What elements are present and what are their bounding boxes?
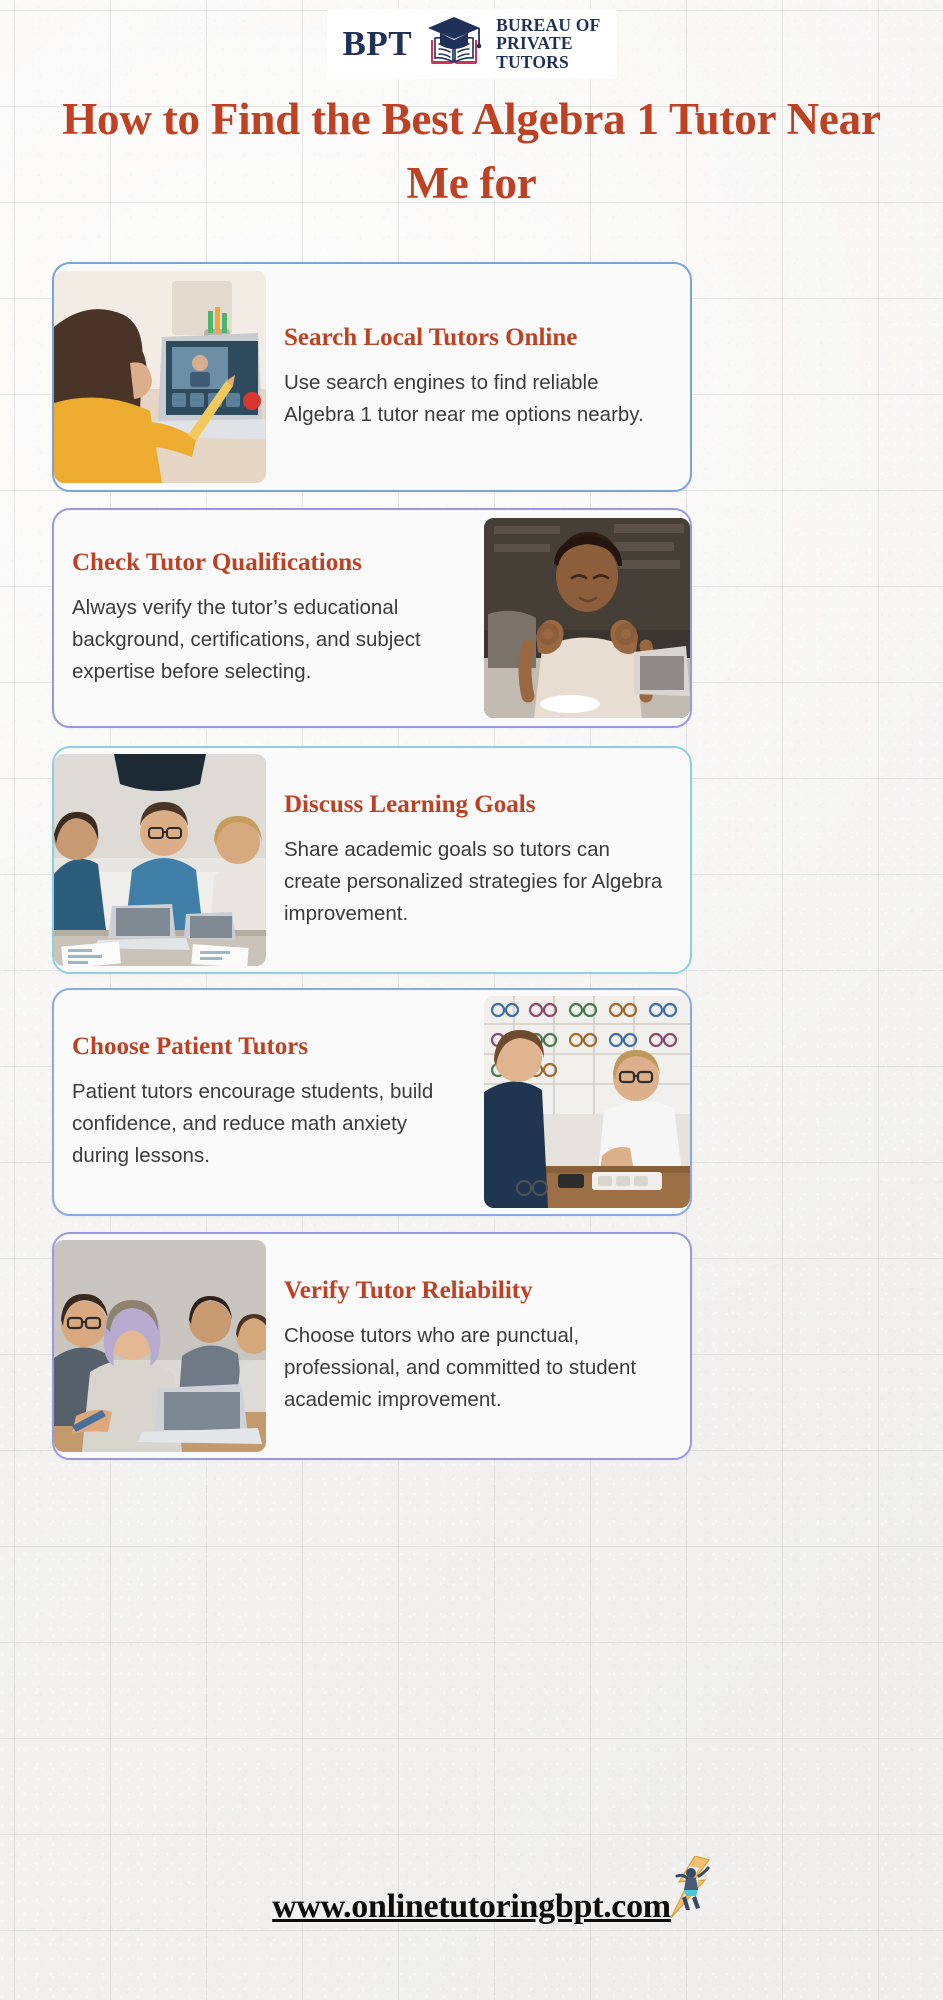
website-url-link[interactable]: www.onlinetutoringbpt.com [272,1888,671,1926]
page-title: How to Find the Best Algebra 1 Tutor Nea… [42,88,901,216]
infographic-canvas: BPT [0,0,943,2000]
brand-logo: BPT [0,9,943,79]
step-card-5-heading: Verify Tutor Reliability [284,1276,672,1306]
step-card-3-body: Share academic goals so tutors can creat… [284,834,672,929]
step-card-1-body: Use search engines to find reliable Alge… [284,367,672,431]
step-card-2: Check Tutor Qualifications Always verify… [52,508,692,728]
graduation-cap-book-icon [426,15,482,72]
step-card-4-text: Choose Patient Tutors Patient tutors enc… [54,990,484,1214]
step-card-2-heading: Check Tutor Qualifications [72,548,466,578]
step-card-5-text: Verify Tutor Reliability Choose tutors w… [266,1234,690,1458]
logo-abbreviation: BPT [343,26,413,61]
superhero-lightning-bolt-icon [665,1856,711,1923]
step-card-3: Discuss Learning Goals Share academic go… [52,746,692,974]
logo-wordmark-line-2: PRIVATE [496,34,600,52]
step-card-3-text: Discuss Learning Goals Share academic go… [266,748,690,972]
step-card-1-text: Search Local Tutors Online Use search en… [266,264,690,490]
step-card-2-text: Check Tutor Qualifications Always verify… [54,510,484,726]
footer: www.onlinetutoringbpt.com [0,1888,943,1926]
step-card-4: Choose Patient Tutors Patient tutors enc… [52,988,692,1216]
step-card-1-heading: Search Local Tutors Online [284,323,672,353]
step-card-2-body: Always verify the tutor’s educational ba… [72,592,466,687]
step-card-4-body: Patient tutors encourage students, build… [72,1076,466,1171]
logo-wordmark-line-3: TUTORS [496,53,600,71]
step-card-4-heading: Choose Patient Tutors [72,1032,466,1062]
logo-wordmark: BUREAU OF PRIVATE TUTORS [496,16,600,71]
step-card-3-photo [54,754,266,966]
step-card-5: Verify Tutor Reliability Choose tutors w… [52,1232,692,1460]
step-card-3-heading: Discuss Learning Goals [284,790,672,820]
step-card-5-photo [54,1240,266,1452]
step-card-2-photo [484,518,690,718]
step-card-5-body: Choose tutors who are punctual, professi… [284,1320,672,1415]
step-card-1: Search Local Tutors Online Use search en… [52,262,692,492]
step-card-4-photo [484,996,690,1208]
logo-box: BPT [327,9,617,79]
step-card-1-photo [54,271,266,483]
logo-wordmark-line-1: BUREAU OF [496,16,600,34]
